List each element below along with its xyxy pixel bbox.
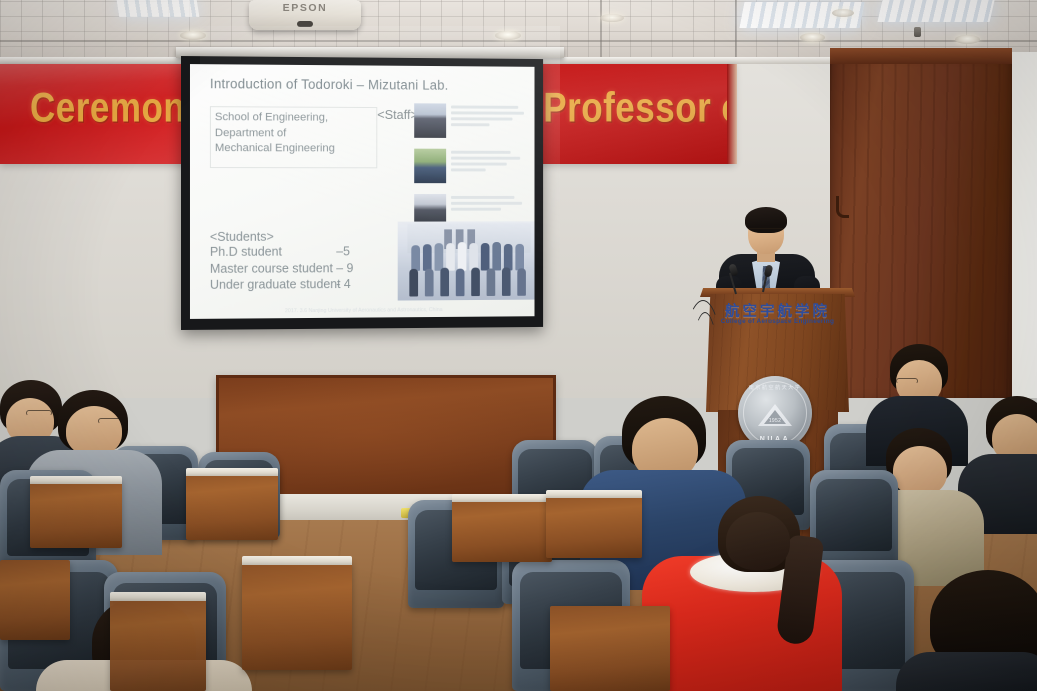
projection-screen-surface: Introduction of Todoroki – Mizutani Lab.… [190,64,535,319]
recessed-downlight [180,31,206,40]
recessed-downlight [495,31,521,40]
person-eyeglasses [98,418,126,424]
slide-students-block: <Students> Ph.D student –5 Master course… [210,230,353,294]
photo-person [515,244,524,270]
photo-person [440,268,449,297]
person-eyeglasses [26,410,52,416]
ceiling-grid-line [600,0,602,62]
student-label: Ph.D student [210,244,330,261]
photo-person [456,269,465,297]
projection-screen-frame: Introduction of Todoroki – Mizutani Lab.… [181,56,543,330]
staff-entry [414,103,525,138]
desk [546,492,642,558]
desk [0,560,70,640]
lecture-hall-scene: EPSON Ceremony of Awarding Guest Profess… [0,0,1037,691]
affiliation-line: Department of [215,126,373,142]
recessed-downlight [955,35,980,44]
photo-person [423,244,432,271]
wall-hook [836,196,849,218]
photo-person [492,242,501,270]
staff-entry [414,149,525,184]
ceiling-grid-line [0,40,1037,42]
desk-surface [452,494,552,502]
person-head [893,446,947,496]
staff-description-text [451,149,520,175]
fluorescent-panel-light [877,0,994,22]
desk [550,606,670,691]
desk [452,496,552,562]
desk-surface [186,468,278,476]
emblem-founding-year: 1952 [738,418,812,424]
student-label: Master course student [210,260,330,277]
staff-description-text [451,194,522,214]
photo-person [435,243,444,271]
recessed-downlight [800,33,825,42]
wood-column-header [830,48,1012,64]
fluorescent-panel-light [117,0,200,17]
students-heading: <Students> [210,230,353,244]
photo-person [504,244,513,270]
student-row: Master course student – 9 [210,260,353,277]
slide-staff-heading: <Staff> [377,107,418,122]
staff-portrait-photo [414,149,446,184]
slide-footer-text: 2017. 3.6 Nanjing University of Aeronaut… [190,306,535,315]
projector: EPSON [249,0,361,30]
banner-right-edge [727,64,737,164]
photo-person [517,268,526,295]
person-eyeglasses [896,378,918,384]
desk [242,560,352,670]
desk-surface [30,476,122,484]
photo-person [425,269,434,297]
affiliation-line: School of Engineering, [215,110,373,126]
photo-person [487,268,496,296]
person-torso [896,652,1037,691]
auditorium-seat[interactable] [810,470,898,568]
projector-lens [297,21,313,27]
student-row: Ph.D student –5 [210,243,353,260]
desk [110,596,206,691]
desk [30,478,122,548]
sprinkler-head [914,27,921,37]
photo-person [469,243,478,271]
person-head-back [726,512,790,570]
podium-english-name: College of Aerospace Engineering [706,318,849,325]
photo-person [458,242,467,271]
ceiling-grid-line [735,0,737,62]
student-count: - 4 [336,276,350,292]
affiliation-line: Mechanical Engineering [215,141,373,157]
speaker-eyeglasses [749,228,783,235]
projector-brand-label: EPSON [249,2,361,14]
photo-person [481,243,490,271]
desk-surface [242,556,352,565]
slide-title: Introduction of Todoroki – Mizutani Lab. [210,76,521,93]
photo-person [446,243,455,271]
presentation-slide: Introduction of Todoroki – Mizutani Lab.… [190,64,535,319]
recessed-downlight [832,9,854,17]
photo-person [411,245,420,271]
student-label: Under graduate student [210,276,330,293]
photo-person [502,267,511,295]
slide-affiliation-box: School of Engineering, Department of Mec… [210,106,377,168]
desk [186,470,278,540]
recessed-downlight [600,14,624,22]
student-count: – 9 [336,260,353,276]
lab-group-photo [398,221,535,300]
photo-person [471,268,480,297]
emblem-chinese-text: 南京航空航天大学 [738,384,812,391]
staff-portrait-photo [414,103,446,138]
student-row: Under graduate student - 4 [210,276,353,293]
photo-person [409,269,418,297]
person-head [66,406,122,456]
desk-surface [110,592,206,601]
staff-description-text [451,104,524,130]
student-count: –5 [336,243,350,259]
nuaa-emblem: 南京航空航天大学 1952 NUAA [738,376,812,450]
desk-surface [546,490,642,498]
